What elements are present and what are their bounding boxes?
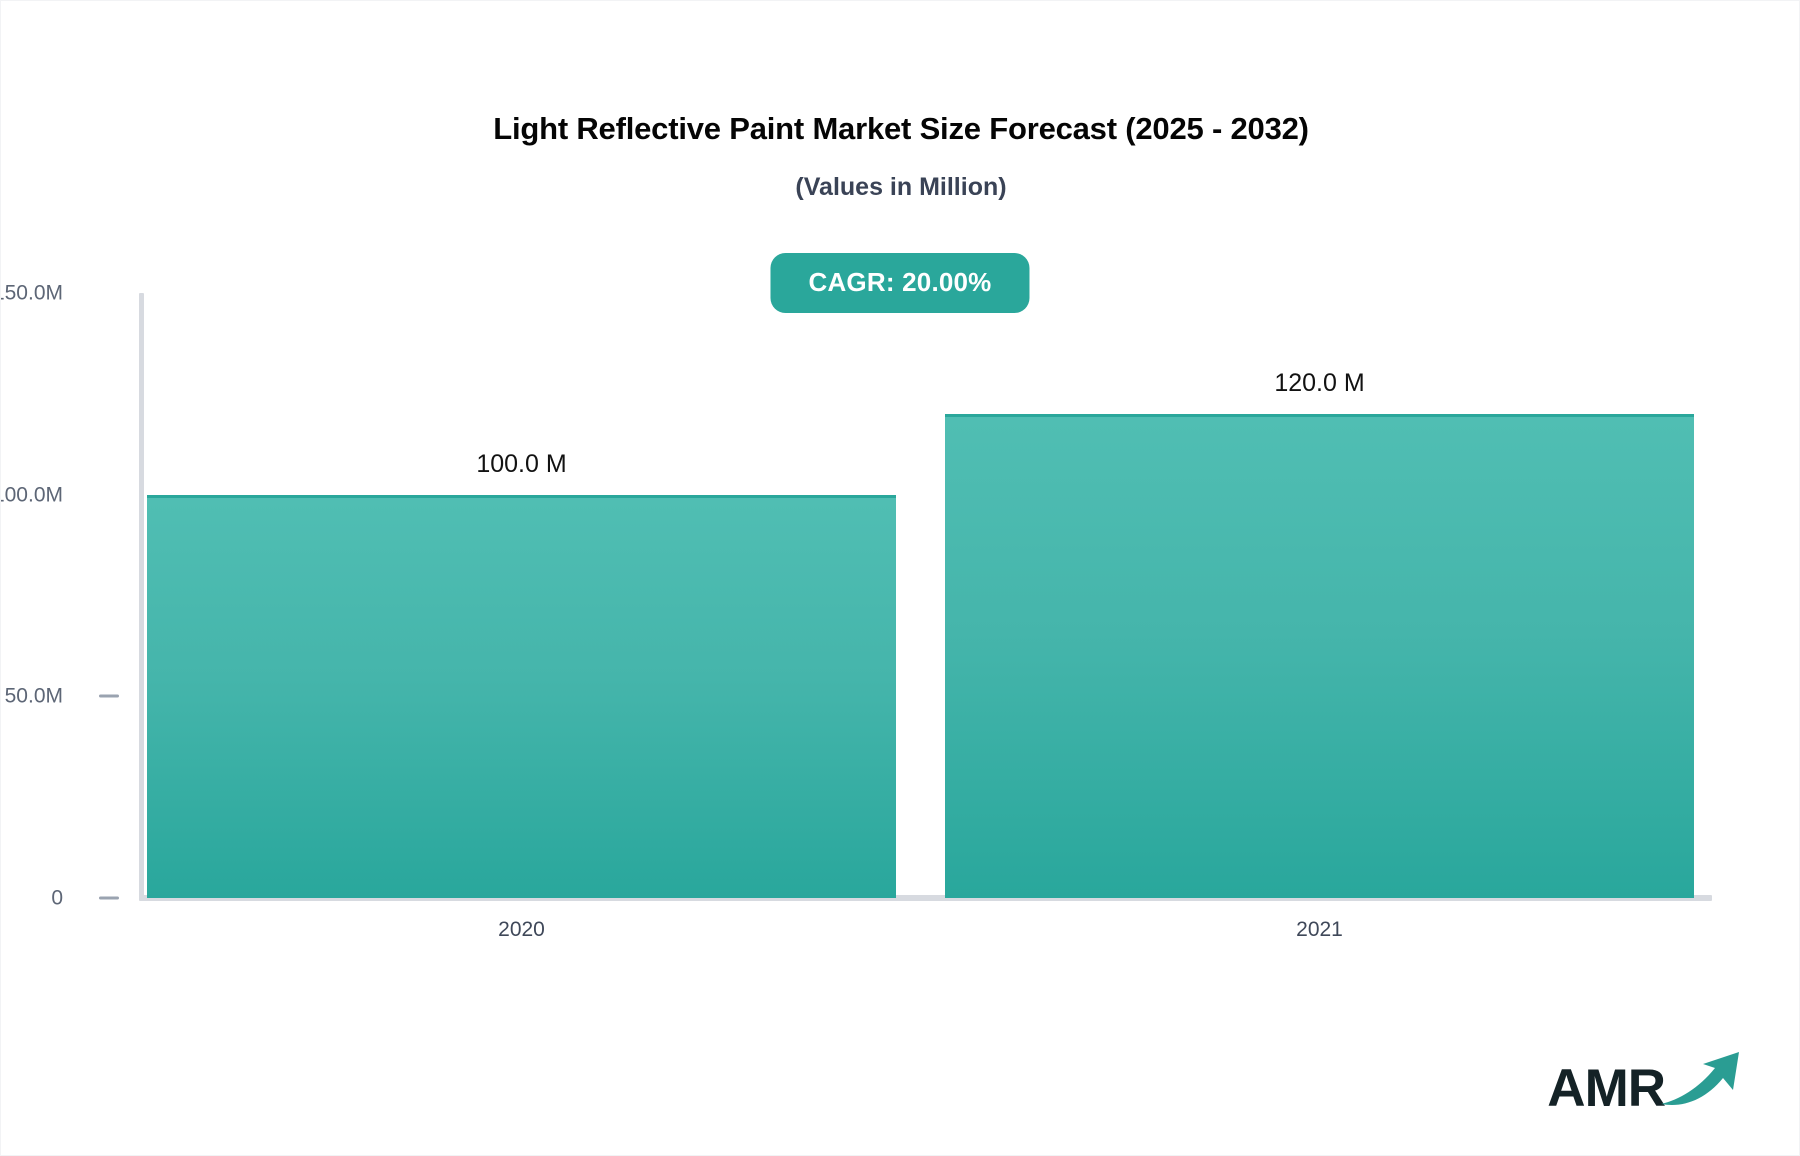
chart-canvas: Light Reflective Paint Market Size Forec… [0, 0, 1800, 1156]
amr-logo: AMR [1547, 1048, 1745, 1115]
bar-value-label: 120.0 M [945, 371, 1694, 396]
x-axis-tick-label: 2020 [147, 919, 896, 940]
amr-logo-text: AMR [1547, 1062, 1665, 1115]
growth-arrow-icon [1659, 1048, 1745, 1113]
bar-2021[interactable] [945, 414, 1694, 898]
bar-value-label: 100.0 M [147, 452, 896, 477]
plot-area: 050.0M100.0M150.0M 100.0 M120.0 M 202020… [1, 1, 1800, 1156]
bar-series [1, 1, 1800, 895]
x-axis-tick-label: 2021 [945, 919, 1694, 940]
y-axis-tick-mark [99, 897, 119, 900]
bar-2020[interactable] [147, 495, 896, 898]
